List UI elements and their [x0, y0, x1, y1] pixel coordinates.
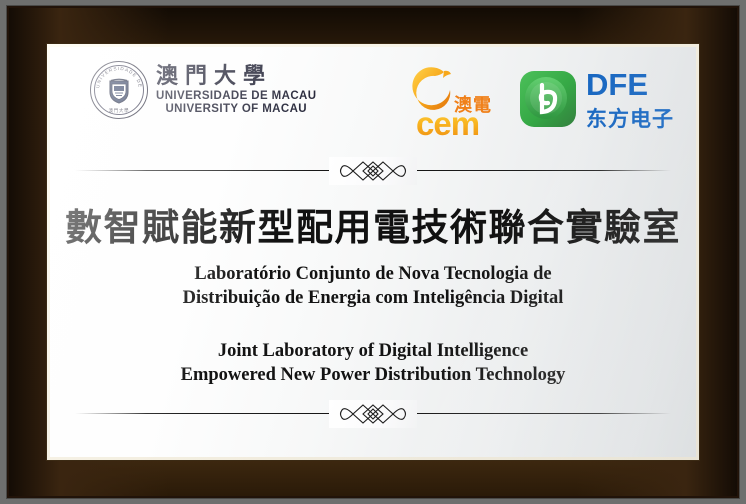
logo-cem: 澳電 cem [402, 63, 512, 151]
title-chinese: 數智賦能新型配用電技術聯合實驗室 [50, 197, 696, 251]
plaque-face: UNIVERSIDADE DE MACAU 澳門大學 澳門大學 UNIVERSI… [50, 47, 696, 457]
title-english-line-1: Joint Laboratory of Digital Intelligence [50, 339, 696, 363]
um-chinese-name: 澳門大學 [156, 65, 316, 87]
logo-dfe: DFE 东方电子 [518, 67, 678, 147]
university-seal-icon: UNIVERSIDADE DE MACAU 澳門大學 [90, 61, 148, 119]
dfe-chinese-name: 东方电子 [586, 103, 674, 133]
divider-bottom [75, 400, 671, 428]
svg-text:UNIVERSIDADE DE MACAU: UNIVERSIDADE DE MACAU [91, 62, 143, 91]
svg-text:澳門大學: 澳門大學 [109, 107, 130, 114]
diamond-scroll-ornament-icon [331, 157, 415, 185]
dfe-wordmark: DFE [586, 69, 648, 100]
cem-wordmark: cem [416, 107, 479, 140]
title-portuguese-line-2: Distribuição de Energia com Inteligência… [50, 286, 696, 310]
dfe-mark-icon [518, 69, 580, 131]
logo-university-of-macau: UNIVERSIDADE DE MACAU 澳門大學 澳門大學 UNIVERSI… [90, 61, 316, 119]
logo-row: UNIVERSIDADE DE MACAU 澳門大學 澳門大學 UNIVERSI… [50, 55, 696, 155]
title-english-line-2: Empowered New Power Distribution Technol… [50, 363, 696, 387]
divider-top [75, 157, 671, 185]
diamond-scroll-ornament-icon [331, 400, 415, 428]
plaque-scene: UNIVERSIDADE DE MACAU 澳門大學 澳門大學 UNIVERSI… [0, 0, 746, 504]
title-portuguese: Laboratório Conjunto de Nova Tecnologia … [50, 262, 696, 311]
title-english: Joint Laboratory of Digital Intelligence… [50, 339, 696, 388]
um-english-name: UNIVERSITY OF MACAU [156, 104, 316, 116]
title-portuguese-line-1: Laboratório Conjunto de Nova Tecnologia … [50, 262, 696, 286]
um-text-block: 澳門大學 UNIVERSIDADE DE MACAU UNIVERSITY OF… [156, 65, 316, 116]
um-portuguese-name: UNIVERSIDADE DE MACAU [156, 91, 316, 103]
